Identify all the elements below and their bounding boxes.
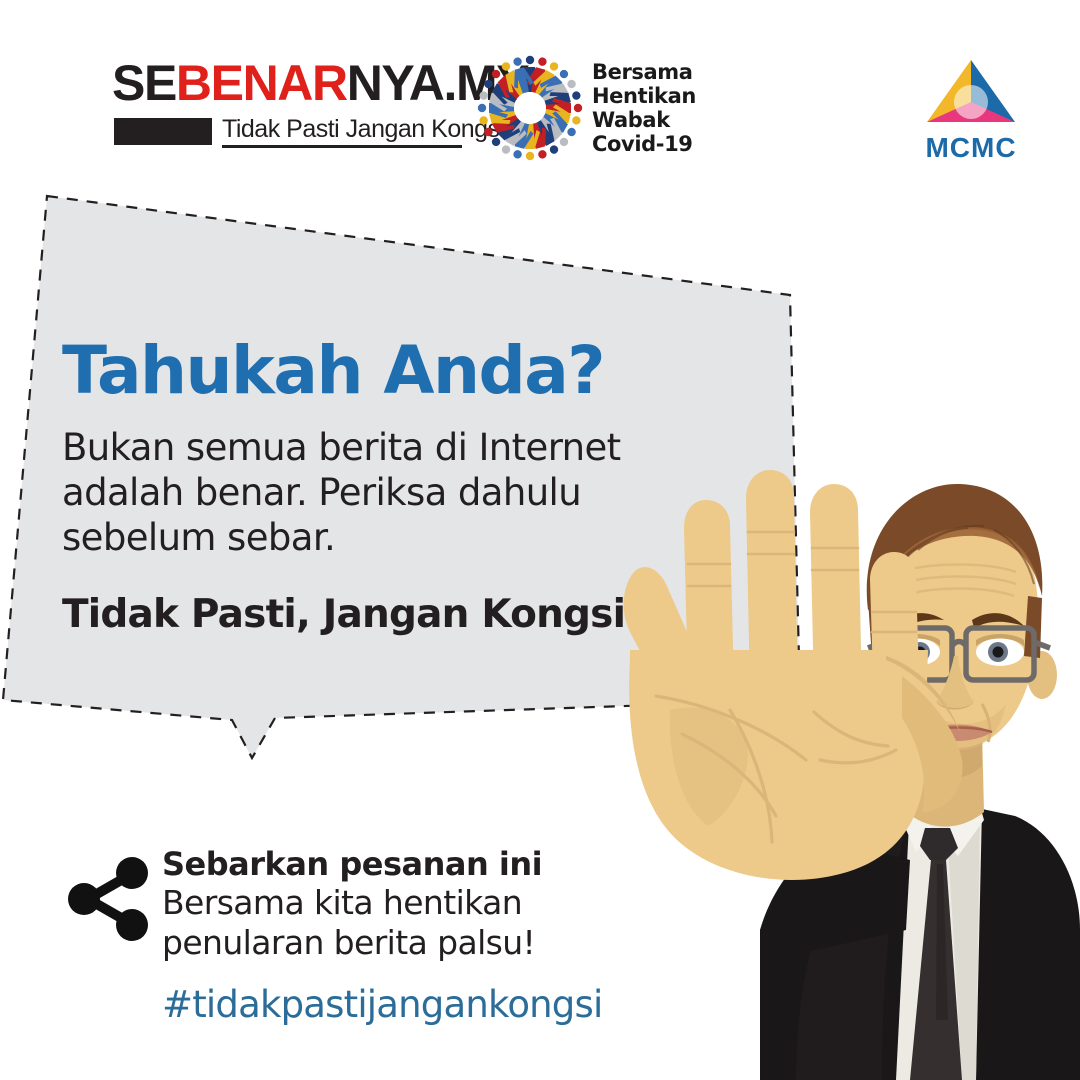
- share-text: Sebarkan pesanan ini Bersama kita hentik…: [162, 845, 622, 963]
- covid-line-4: Covid-19: [592, 132, 697, 156]
- share-block: Sebarkan pesanan ini Bersama kita hentik…: [58, 845, 618, 1065]
- bubble-title: Tahukah Anda?: [62, 335, 722, 407]
- mcmc-label: MCMC: [908, 132, 1034, 164]
- people-burst-icon: [474, 52, 586, 164]
- man-stop-hand-illustration: [610, 460, 1080, 1080]
- sebenarnya-black-bar: [114, 118, 212, 145]
- sebenarnya-tagline: Tidak Pasti Jangan Kongsi: [222, 114, 462, 148]
- sebenarnya-wordmark: SEBENARNYA.MY: [112, 56, 462, 110]
- sebenarnya-wordmark-se: SE: [112, 55, 176, 111]
- mcmc-triangle-icon: [921, 58, 1021, 132]
- share-heading: Sebarkan pesanan ini: [162, 845, 622, 883]
- covid-campaign-text: Bersama Hentikan Wabak Covid-19: [592, 60, 697, 156]
- covid-line-2: Hentikan: [592, 84, 697, 108]
- mcmc-logo: MCMC: [908, 58, 1034, 162]
- hashtag[interactable]: #tidakpastijangankongsi: [162, 983, 602, 1027]
- covid-campaign-logo: Bersama Hentikan Wabak Covid-19: [474, 52, 694, 164]
- share-subtext: Bersama kita hentikan penularan berita p…: [162, 883, 602, 963]
- covid-line-1: Bersama: [592, 60, 697, 84]
- poster-root: SEBENARNYA.MY Tidak Pasti Jangan Kongsi …: [0, 0, 1080, 1080]
- sebenarnya-wordmark-benar: BENAR: [176, 55, 347, 111]
- covid-line-3: Wabak: [592, 108, 697, 132]
- share-icon[interactable]: [62, 853, 154, 945]
- header: SEBENARNYA.MY Tidak Pasti Jangan Kongsi …: [0, 0, 1080, 180]
- sebenarnya-logo: SEBENARNYA.MY Tidak Pasti Jangan Kongsi: [112, 56, 462, 148]
